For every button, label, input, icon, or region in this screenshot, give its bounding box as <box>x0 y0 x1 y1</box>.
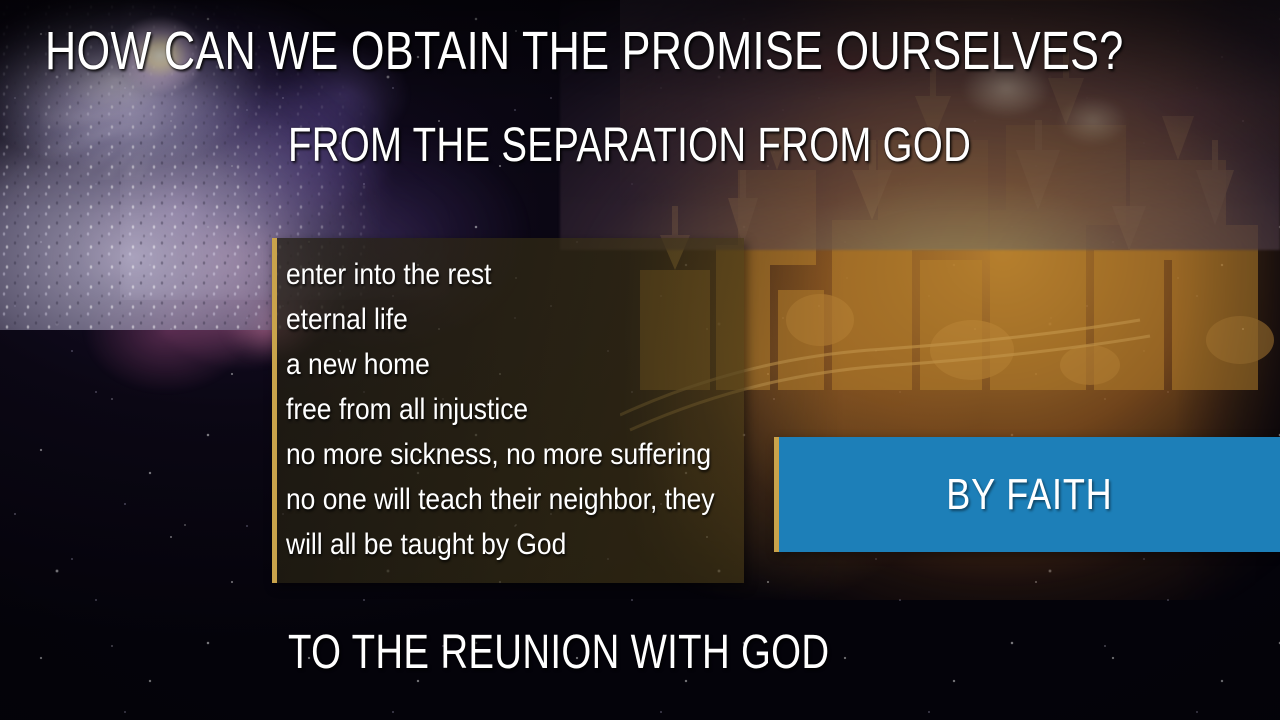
by-faith-callout: BY FAITH <box>774 437 1280 552</box>
list-item: enter into the rest <box>286 252 700 297</box>
slide-canvas: HOW CAN WE OBTAIN THE PROMISE OURSELVES?… <box>0 0 1280 720</box>
subtitle-from-separation: FROM THE SEPARATION FROM GOD <box>288 118 971 173</box>
subtitle-to-reunion: TO THE REUNION WITH GOD <box>288 625 829 680</box>
list-item: a new home <box>286 342 700 387</box>
list-item: free from all injustice <box>286 387 700 432</box>
promise-list: enter into the rest eternal life a new h… <box>286 252 700 567</box>
list-item: will all be taught by God <box>286 522 700 567</box>
list-item: eternal life <box>286 297 700 342</box>
slide-title: HOW CAN WE OBTAIN THE PROMISE OURSELVES? <box>45 20 1124 82</box>
list-item: no more sickness, no more suffering <box>286 432 700 477</box>
list-item: no one will teach their neighbor, they <box>286 477 700 522</box>
by-faith-label: BY FAITH <box>946 470 1112 520</box>
